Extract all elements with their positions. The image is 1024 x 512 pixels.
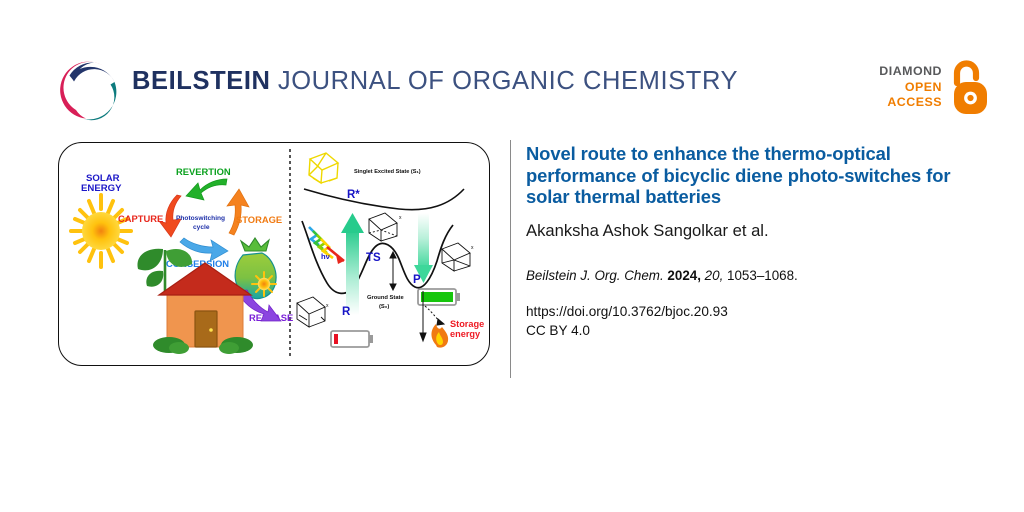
article-title[interactable]: Novel route to enhance the thermo-optica… — [526, 143, 966, 208]
label-photon: hν — [321, 252, 330, 261]
lock-keyhole-inner — [967, 95, 973, 101]
label-storage: STORAGE — [236, 214, 282, 225]
arrow-storage — [227, 189, 249, 235]
journal-wordmark: BEILSTEIN JOURNAL OF ORGANIC CHEMISTRY — [132, 67, 738, 96]
label-reactant: R — [342, 306, 351, 318]
label-ground-state-line2: (S₀) — [379, 304, 389, 310]
open-lock-icon-svg — [950, 60, 990, 116]
graphical-abstract: SOLAR ENERGY — [58, 142, 490, 366]
citation-pages: 1053–1068. — [727, 268, 798, 283]
label-revertion: REVERTION — [176, 166, 231, 177]
battery-empty-icon — [331, 331, 373, 347]
article-metadata: Novel route to enhance the thermo-optica… — [526, 143, 966, 341]
excited-state-curve — [304, 189, 464, 210]
arrow-revertion — [186, 179, 227, 200]
open-access-badge: DIAMOND OPEN ACCESS — [868, 60, 988, 122]
arrow-relaxation-down — [414, 213, 433, 283]
svg-text:x: x — [471, 245, 474, 251]
label-r-star: R* — [347, 189, 360, 201]
molecule-product: x — [442, 243, 474, 271]
lock-shackle — [957, 64, 976, 84]
open-access-label-group: DIAMOND OPEN ACCESS — [868, 64, 942, 111]
svg-text:x: x — [326, 303, 329, 309]
citation-journal: Beilstein J. Org. Chem. — [526, 268, 664, 283]
label-transition-state: TS — [366, 252, 381, 264]
open-lock-icon — [950, 60, 990, 116]
label-storage-energy-line2: energy — [450, 329, 481, 339]
label-product: P — [413, 274, 421, 286]
article-doi-link[interactable]: https://doi.org/10.3762/bjoc.20.93 — [526, 302, 966, 322]
barrier-height-indicator — [390, 252, 396, 290]
vertical-divider — [510, 140, 511, 378]
article-citation: Beilstein J. Org. Chem. 2024, 20, 1053–1… — [526, 267, 966, 285]
label-ground-state-line1: Ground State — [367, 295, 404, 301]
label-singlet-excited-state: Singlet Excited State (S₁) — [354, 169, 421, 175]
sun-icon — [71, 195, 131, 267]
article-license: CC BY 4.0 — [526, 321, 966, 341]
oa-label-access: ACCESS — [868, 95, 942, 111]
citation-year: 2024, — [667, 268, 701, 283]
label-storage-energy-line1: Storage — [450, 319, 484, 329]
graphical-abstract-svg: SOLAR ENERGY — [59, 143, 489, 365]
beilstein-ring-logo-svg — [56, 56, 124, 124]
svg-text:x: x — [399, 215, 402, 221]
molecule-transition-state: x — [369, 213, 402, 241]
flame-icon — [431, 324, 448, 348]
label-solar-energy-line2: ENERGY — [81, 183, 122, 194]
oa-label-open: OPEN — [868, 80, 942, 96]
molecule-reactant: x — [297, 297, 329, 327]
arrow-excitation-up — [341, 213, 364, 315]
molecule-excited-state — [309, 153, 338, 183]
masthead: BEILSTEIN JOURNAL OF ORGANIC CHEMISTRY D… — [0, 0, 1024, 130]
battery-full-icon — [418, 289, 460, 305]
citation-volume: 20, — [705, 268, 724, 283]
logo-arc-teal — [84, 82, 116, 120]
label-cycle-line1: Photoswitching — [176, 215, 225, 222]
label-capture: CAPTURE — [118, 213, 163, 224]
wordmark-journal: JOURNAL OF ORGANIC CHEMISTRY — [278, 67, 738, 95]
oa-label-diamond: DIAMOND — [868, 64, 942, 80]
label-cycle-line2: cycle — [193, 224, 210, 231]
wordmark-beilstein: BEILSTEIN — [132, 67, 271, 95]
beilstein-ring-logo — [56, 56, 124, 124]
article-authors: Akanksha Ashok Sangolkar et al. — [526, 221, 966, 241]
